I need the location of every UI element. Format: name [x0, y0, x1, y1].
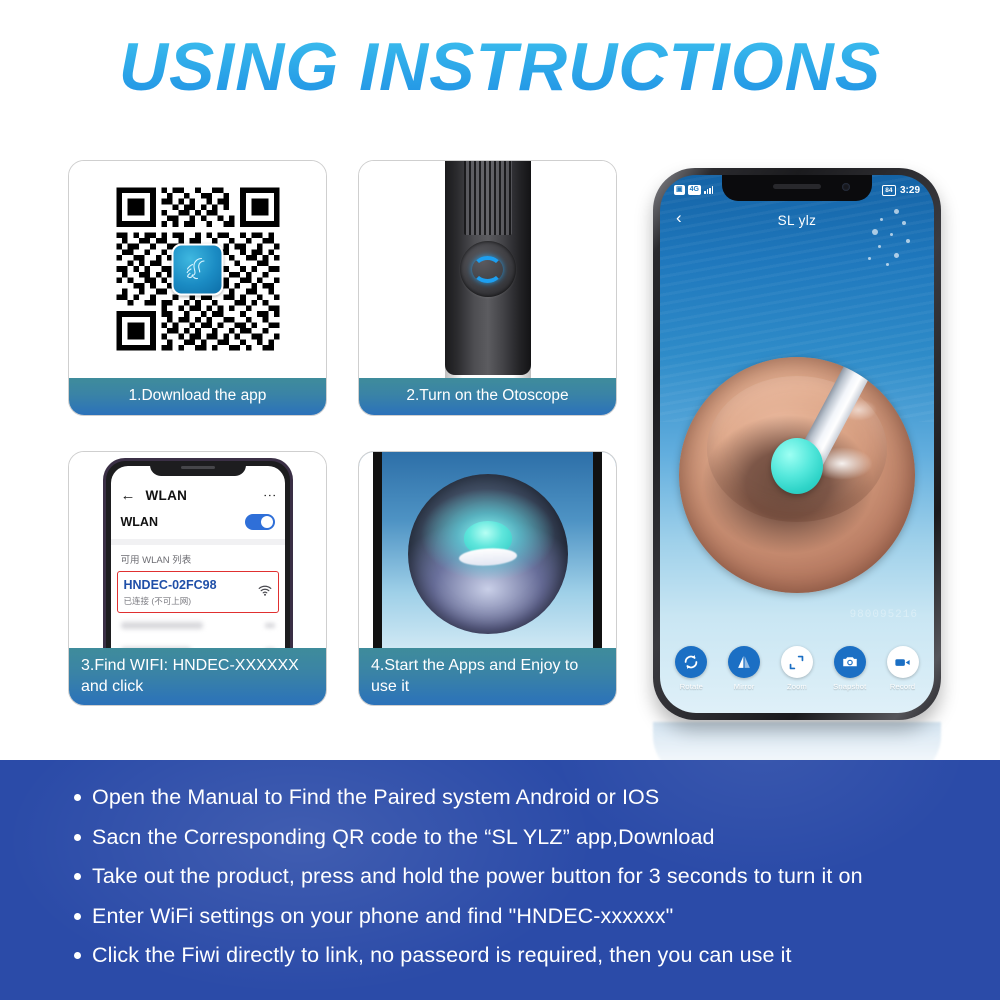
scoop-tip	[771, 438, 823, 494]
bullet-dot-icon	[74, 913, 81, 920]
power-button[interactable]	[460, 241, 516, 297]
more-vertical-icon[interactable]: ⋮	[265, 489, 274, 502]
step-caption-3: 3.Find WIFI: HNDEC-XXXXXX and click	[69, 648, 326, 705]
scope-preview-panel	[359, 452, 616, 648]
camera-icon	[834, 646, 866, 678]
steps-grid: 1.Download the app 2.Turn on the Otoscop…	[68, 160, 618, 706]
wlan-ssid: HNDEC-02FC98	[124, 578, 217, 592]
step-caption-1: 1.Download the app	[69, 378, 326, 415]
instructions-banner: Open the Manual to Find the Paired syste…	[0, 760, 1000, 1000]
phone-screen: ▣ 4G 84 3:29 ‹ SL ylz 980095216	[660, 175, 934, 713]
wlan-panel: ← WLAN ⋮ WLAN 可用 WLAN 列表 HNDEC-	[69, 452, 326, 648]
step-card-3[interactable]: ← WLAN ⋮ WLAN 可用 WLAN 列表 HNDEC-	[68, 451, 327, 706]
camera-toolbar: Rotate Mirror	[660, 646, 934, 691]
instructions-list: Open the Manual to Find the Paired syste…	[0, 760, 1000, 970]
signal-bars-icon	[704, 186, 713, 194]
page-title: USING INSTRUCTIONS	[119, 28, 881, 106]
battery-level-badge: 84	[882, 185, 896, 196]
wlan-toggle-switch[interactable]	[245, 514, 275, 530]
toolbar-label-zoom: Zoom	[787, 682, 807, 691]
instruction-item: Enter WiFi settings on your phone and fi…	[74, 903, 960, 931]
bullet-dot-icon	[74, 952, 81, 959]
instruction-item: Sacn the Corresponding QR code to the “S…	[74, 824, 960, 852]
wlan-toggle-row[interactable]: WLAN	[111, 510, 285, 539]
wlan-phone-mockup: ← WLAN ⋮ WLAN 可用 WLAN 列表 HNDEC-	[103, 458, 293, 648]
scope-phone-mockup	[359, 452, 616, 648]
status-bar: ▣ 4G 84 3:29	[660, 175, 934, 201]
instruction-text: Sacn the Corresponding QR code to the “S…	[92, 824, 715, 852]
wifi-glyph-icon	[258, 585, 272, 596]
status-bar-clock: 3:29	[900, 185, 920, 196]
app-title: SL ylz	[778, 213, 817, 228]
page-header: USING INSTRUCTIONS	[0, 28, 1000, 106]
instruction-text: Click the Fiwi directly to link, no pass…	[92, 942, 792, 970]
wlan-header-title: WLAN	[146, 488, 188, 503]
wlan-network-item-highlighted[interactable]: HNDEC-02FC98 已连接 (不可上网)	[117, 571, 279, 613]
toolbar-label-mirror: Mirror	[734, 682, 755, 691]
toolbar-button-record[interactable]: Record	[881, 646, 924, 691]
steps-row-top: 1.Download the app 2.Turn on the Otoscop…	[68, 160, 618, 416]
toolbar-button-zoom[interactable]: Zoom	[776, 646, 819, 691]
app-logo-glyph-icon	[180, 251, 216, 287]
toolbar-button-rotate[interactable]: Rotate	[670, 646, 713, 691]
wlan-network-item-blurred	[121, 622, 275, 633]
bullet-dot-icon	[74, 794, 81, 801]
step-caption-2: 2.Turn on the Otoscope	[359, 378, 616, 415]
wlan-section-label: 可用 WLAN 列表	[111, 545, 285, 571]
step-card-2[interactable]: 2.Turn on the Otoscope	[358, 160, 617, 416]
qr-code	[116, 188, 279, 351]
wlan-screen: ← WLAN ⋮ WLAN 可用 WLAN 列表 HNDEC-	[111, 466, 285, 648]
phone-mockup: ▣ 4G 84 3:29 ‹ SL ylz 980095216	[653, 168, 941, 720]
phone-bezel-right	[593, 452, 602, 648]
wlan-toggle-label: WLAN	[121, 515, 159, 529]
wlan-ssid-status: 已连接 (不可上网)	[124, 595, 217, 607]
instruction-text: Open the Manual to Find the Paired syste…	[92, 784, 659, 812]
toolbar-label-rotate: Rotate	[680, 682, 703, 691]
wlan-network-text: HNDEC-02FC98 已连接 (不可上网)	[124, 576, 217, 607]
bullet-dot-icon	[74, 873, 81, 880]
ear-canal-view	[679, 357, 915, 593]
step-card-1[interactable]: 1.Download the app	[68, 160, 327, 416]
step-caption-4: 4.Start the Apps and Enjoy to use it	[359, 648, 616, 705]
back-arrow-icon[interactable]: ←	[121, 488, 136, 503]
toolbar-label-snapshot: Snapshot	[833, 682, 866, 691]
instruction-item: Click the Fiwi directly to link, no pass…	[74, 942, 960, 970]
scope-circular-view	[408, 474, 568, 634]
status-bar-left: ▣ 4G	[674, 185, 713, 195]
device-grip-texture	[464, 161, 512, 235]
card-edge-left	[359, 452, 373, 648]
card-edge-right	[602, 452, 616, 648]
video-icon	[887, 646, 919, 678]
status-bar-right: 84 3:29	[882, 185, 920, 196]
device-body	[445, 161, 531, 375]
video-watermark: 980095216	[850, 609, 918, 621]
qr-panel	[69, 161, 326, 378]
bullet-dot-icon	[74, 834, 81, 841]
toolbar-button-snapshot[interactable]: Snapshot	[828, 646, 871, 691]
sd-card-icon: ▣	[674, 185, 685, 195]
back-chevron-icon[interactable]: ‹	[676, 209, 682, 226]
steps-row-bottom: ← WLAN ⋮ WLAN 可用 WLAN 列表 HNDEC-	[68, 451, 618, 706]
power-ring-icon	[472, 256, 503, 283]
phone-bezel-left	[373, 452, 382, 648]
step-card-4[interactable]: 4.Start the Apps and Enjoy to use it	[358, 451, 617, 706]
app-header: ‹ SL ylz	[660, 205, 934, 235]
wlan-network-item-blurred	[121, 647, 275, 648]
instruction-item: Open the Manual to Find the Paired syste…	[74, 784, 960, 812]
instruction-text: Take out the product, press and hold the…	[92, 863, 863, 891]
network-type-label: 4G	[688, 185, 701, 195]
toolbar-button-mirror[interactable]: Mirror	[723, 646, 766, 691]
instruction-text: Enter WiFi settings on your phone and fi…	[92, 903, 673, 931]
instruction-item: Take out the product, press and hold the…	[74, 863, 960, 891]
toolbar-label-record: Record	[890, 682, 915, 691]
otoscope-panel	[359, 161, 616, 378]
wifi-icon	[258, 584, 272, 599]
zoom-icon	[781, 646, 813, 678]
app-logo-icon	[172, 243, 224, 295]
scope-white-reflection	[458, 547, 517, 567]
rotate-icon	[675, 646, 707, 678]
mirror-icon	[728, 646, 760, 678]
mini-phone-notch	[150, 461, 246, 476]
otoscope-device	[359, 161, 616, 378]
